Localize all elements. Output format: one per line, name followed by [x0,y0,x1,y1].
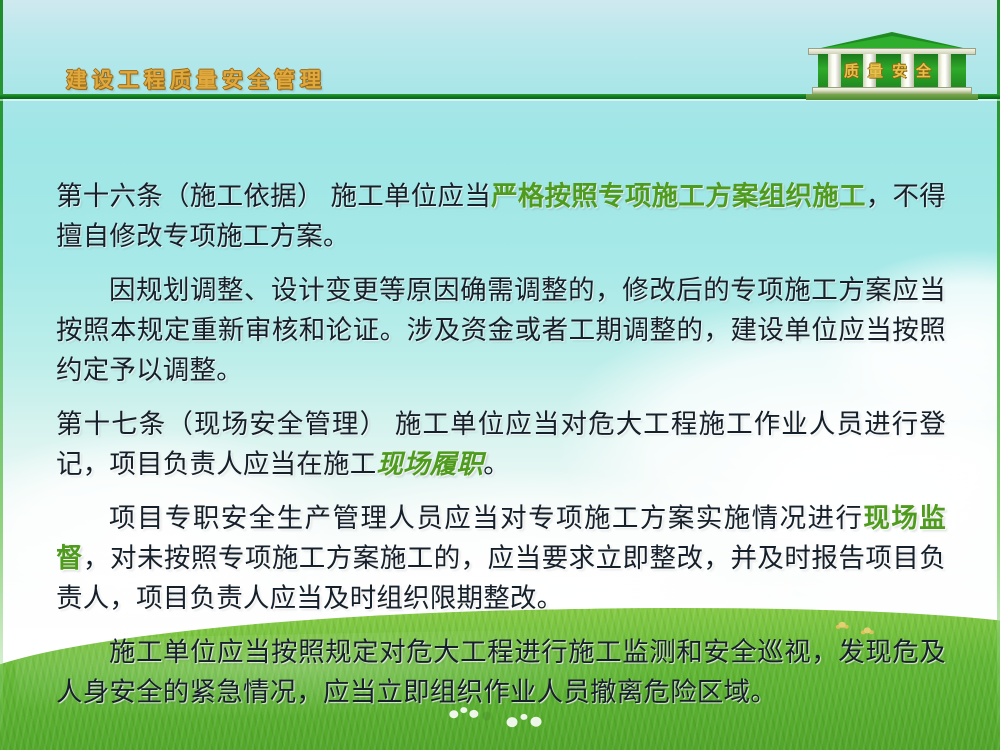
temple-roof-highlight [824,36,960,48]
body-text: 施工单位应当按照规定对危大工程进行施工监测和安全巡视，发现危及人身安全的紧急情况… [56,637,946,707]
left-border-line [0,0,3,750]
body-text: ，对未按照专项施工方案施工的，应当要求立即整改，并及时报告项目负责人，项目负责人… [56,543,946,613]
presentation-slide: 建设工程质量安全管理 质量安全 第十六条（施工依据） 施工单位应当严格按照专项施… [0,0,1000,750]
body-text: 因规划调整、设计变更等原因确需调整的，修改后的专项施工方案应当按照本规定重新审核… [56,275,946,385]
slide-body-content: 第十六条（施工依据） 施工单位应当严格按照专项施工方案组织施工，不得擅自修改专项… [56,176,946,712]
highlighted-text: 严格按照专项施工方案组织施工 [491,181,866,211]
logo-text: 质量安全 [818,60,966,81]
paragraph-article-16: 第十六条（施工依据） 施工单位应当严格按照专项施工方案组织施工，不得擅自修改专项… [56,176,946,256]
paragraph-article-17-p3: 施工单位应当按照规定对危大工程进行施工监测和安全巡视，发现危及人身安全的紧急情况… [56,632,946,712]
quality-safety-temple-logo: 质量安全 [806,32,978,100]
highlighted-text: 现场履职 [376,449,483,479]
body-text: 第十六条（施工依据） 施工单位应当 [56,181,491,211]
paragraph-article-17-p2: 项目专职安全生产管理人员应当对专项施工方案实施情况进行现场监督，对未按照专项施工… [56,498,946,618]
body-text: 项目专职安全生产管理人员应当对专项施工方案实施情况进行 [109,503,863,533]
body-text: 。 [483,449,510,479]
page-title: 建设工程质量安全管理 [66,64,326,94]
temple-plinth [806,94,978,100]
paragraph-article-17: 第十七条（现场安全管理） 施工单位应当对危大工程施工作业人员进行登记，项目负责人… [56,404,946,484]
paragraph-article-16-p2: 因规划调整、设计变更等原因确需调整的，修改后的专项施工方案应当按照本规定重新审核… [56,270,946,390]
